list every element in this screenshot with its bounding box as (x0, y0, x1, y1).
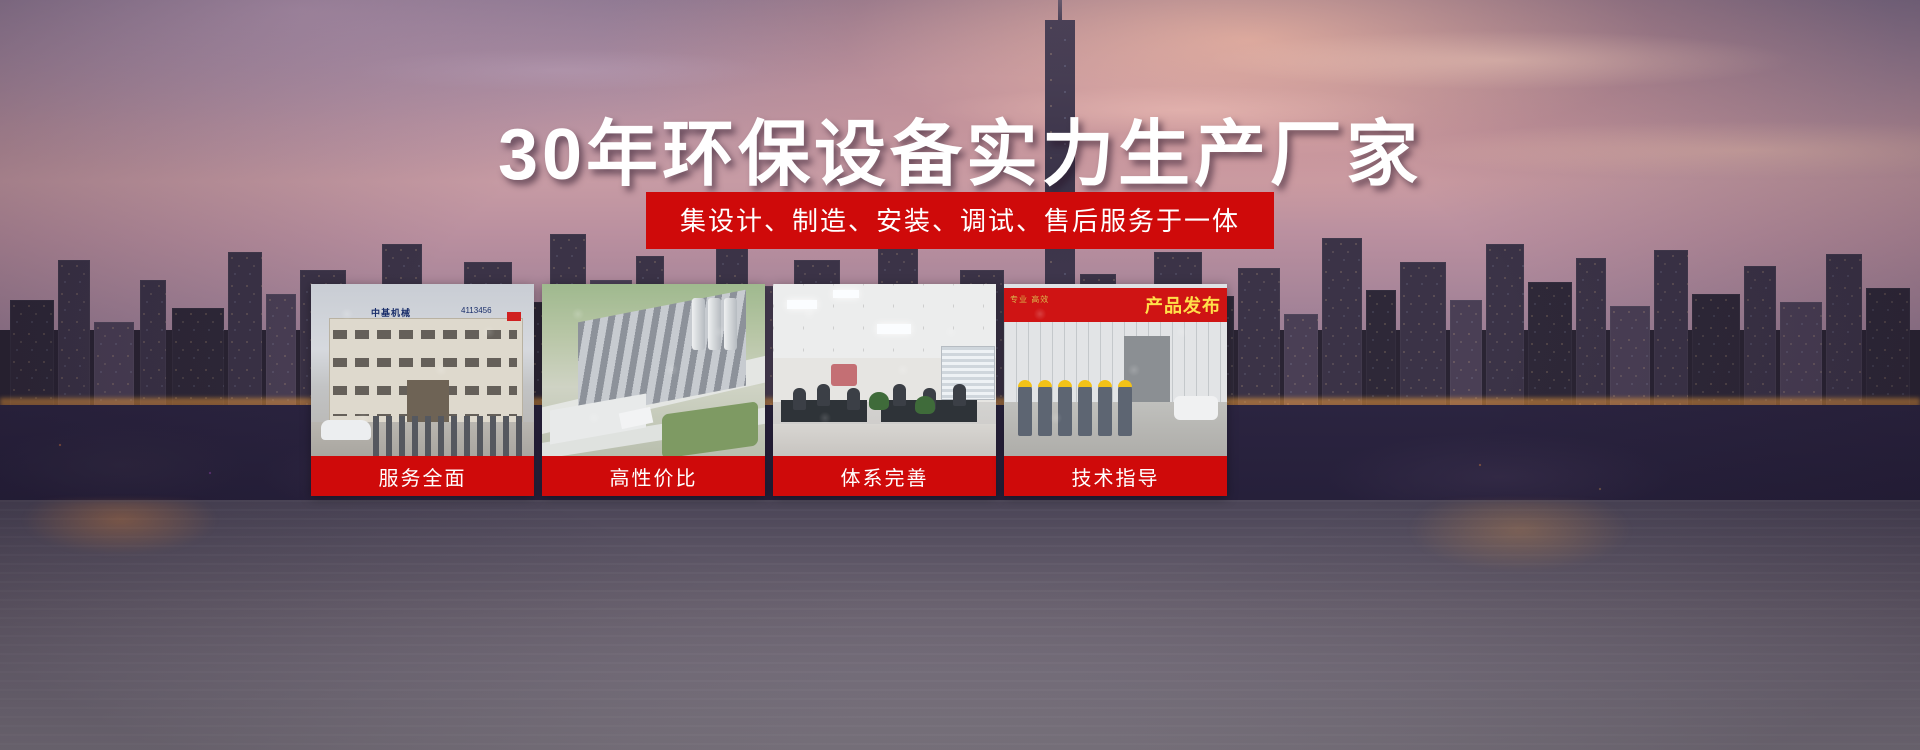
feature-card[interactable]: 高性价比 (542, 284, 765, 496)
card-photo-aerial-plant (542, 284, 765, 456)
window-blinds (941, 346, 995, 400)
building-sign-code: 4113456 (461, 306, 492, 315)
staff-row (373, 416, 523, 456)
wall-decal (831, 364, 857, 386)
card-photo-office-building: 中基机械 4113456 (311, 284, 534, 456)
feature-card[interactable]: 体系完善 (773, 284, 996, 496)
feature-card[interactable]: 产品发布 专业 高效 技术指导 (1004, 284, 1227, 496)
hero-banner: 30年环保设备实力生产厂家 集设计、制造、安装、调试、售后服务于一体 中基机械 … (0, 0, 1920, 750)
card-photo-factory-workers: 产品发布 专业 高效 (1004, 284, 1227, 456)
factory-banner-text: 产品发布 (1145, 292, 1221, 318)
card-label: 技术指导 (1004, 456, 1227, 496)
vehicle-shape (1174, 396, 1218, 420)
card-label: 服务全面 (311, 456, 534, 496)
headline: 30年环保设备实力生产厂家 (0, 95, 1920, 200)
feature-card-list: 中基机械 4113456 服务全面 (311, 284, 1561, 496)
building-sign-text: 中基机械 (371, 306, 411, 319)
flag-icon (507, 312, 521, 321)
car-shape (321, 420, 371, 440)
card-label: 高性价比 (542, 456, 765, 496)
feature-card[interactable]: 中基机械 4113456 服务全面 (311, 284, 534, 496)
factory-wall-text: 专业 高效 (1010, 294, 1049, 305)
subtitle-container: 集设计、制造、安装、调试、售后服务于一体 (0, 192, 1920, 249)
subtitle-badge: 集设计、制造、安装、调试、售后服务于一体 (646, 192, 1274, 249)
card-label: 体系完善 (773, 456, 996, 496)
card-photo-office-interior (773, 284, 996, 456)
